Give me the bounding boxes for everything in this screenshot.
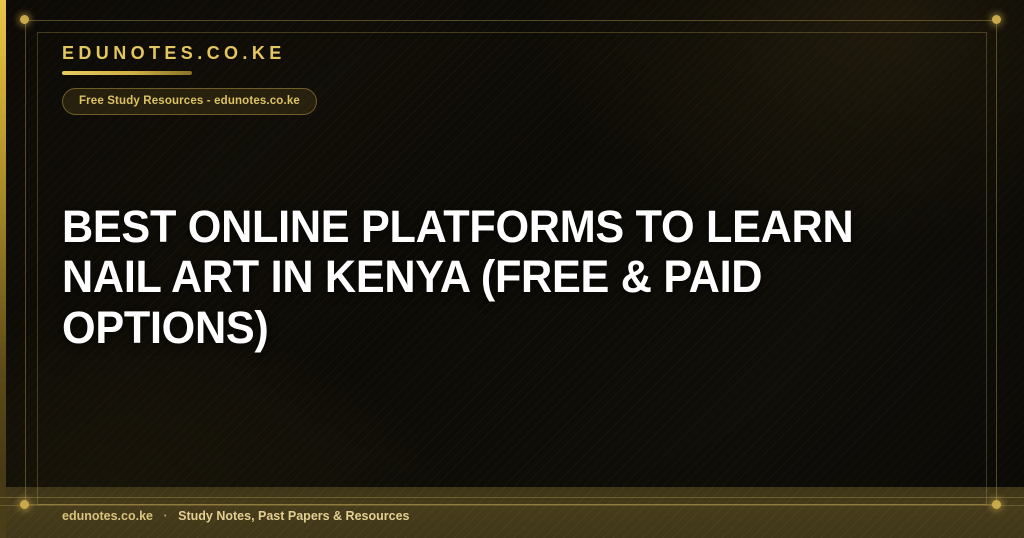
footer-separator: · (163, 509, 167, 523)
brand-name: EDUNOTES.CO.KE (62, 44, 317, 62)
brand-underline (62, 71, 192, 75)
promo-banner: EDUNOTES.CO.KE Free Study Resources - ed… (0, 0, 1024, 538)
footer-site: edunotes.co.ke (62, 509, 153, 523)
page-title: Best Online Platforms to Learn Nail Art … (62, 202, 859, 353)
left-gold-accent-bar (0, 0, 6, 538)
corner-dot-top-right (992, 15, 1001, 24)
brand-block: EDUNOTES.CO.KE Free Study Resources - ed… (62, 44, 317, 115)
corner-dot-top-left (20, 15, 29, 24)
footer-tagline: Study Notes, Past Papers & Resources (178, 509, 409, 523)
footer: edunotes.co.ke · Study Notes, Past Paper… (62, 509, 409, 523)
brand-badge: Free Study Resources - edunotes.co.ke (62, 88, 317, 115)
footer-divider-lower (0, 505, 1024, 506)
footer-divider-upper (0, 497, 1024, 498)
